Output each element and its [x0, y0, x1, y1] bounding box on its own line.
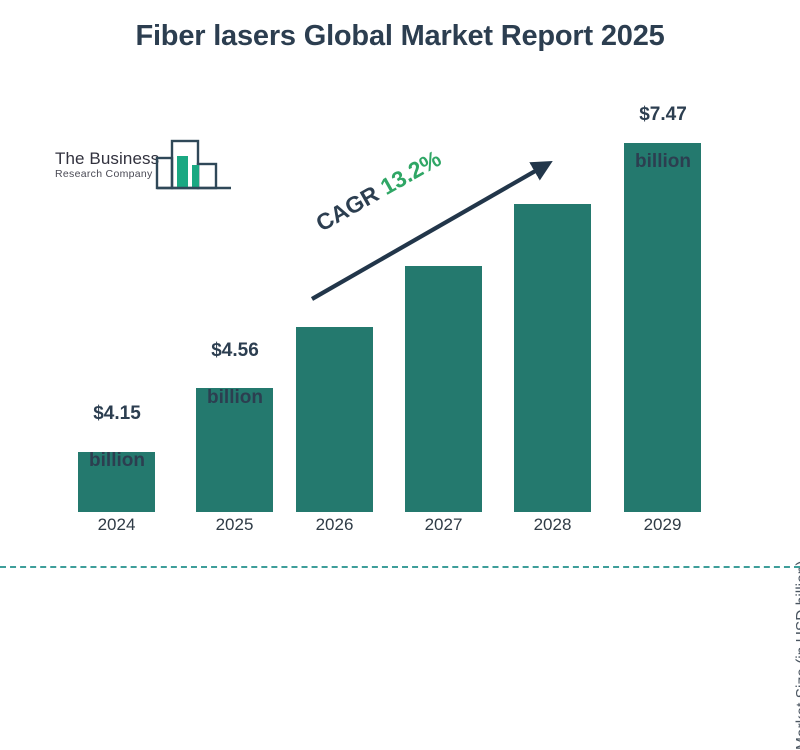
bar-value-2025: $4.56 billion — [176, 316, 294, 432]
x-label-2027: 2027 — [404, 515, 483, 535]
bar-2026 — [296, 327, 373, 512]
bar-value-2029: $7.47 billion — [604, 80, 722, 196]
bar-2027 — [405, 266, 482, 512]
y-axis-title: Market Size (in USD billion) — [794, 500, 800, 750]
bar-value-2029-amount: $7.47 — [604, 103, 722, 126]
bar-value-2024: $4.15 billion — [58, 379, 176, 495]
bar-value-2025-amount: $4.56 — [176, 339, 294, 362]
x-label-2024: 2024 — [77, 515, 156, 535]
x-label-2025: 2025 — [195, 515, 274, 535]
bottom-divider — [0, 566, 800, 568]
chart-canvas: Fiber lasers Global Market Report 2025 T… — [0, 0, 800, 600]
x-label-2028: 2028 — [513, 515, 592, 535]
bar-value-2024-amount: $4.15 — [58, 402, 176, 425]
plot-area: CAGR 13.2% $4.15 billion $4.56 billion $… — [0, 0, 800, 600]
bar-2029 — [624, 143, 701, 512]
bar-2028 — [514, 204, 591, 512]
bar-value-2024-unit: billion — [58, 449, 176, 472]
bar-value-2025-unit: billion — [176, 386, 294, 409]
bar-value-2029-unit: billion — [604, 150, 722, 173]
x-label-2029: 2029 — [623, 515, 702, 535]
x-label-2026: 2026 — [295, 515, 374, 535]
